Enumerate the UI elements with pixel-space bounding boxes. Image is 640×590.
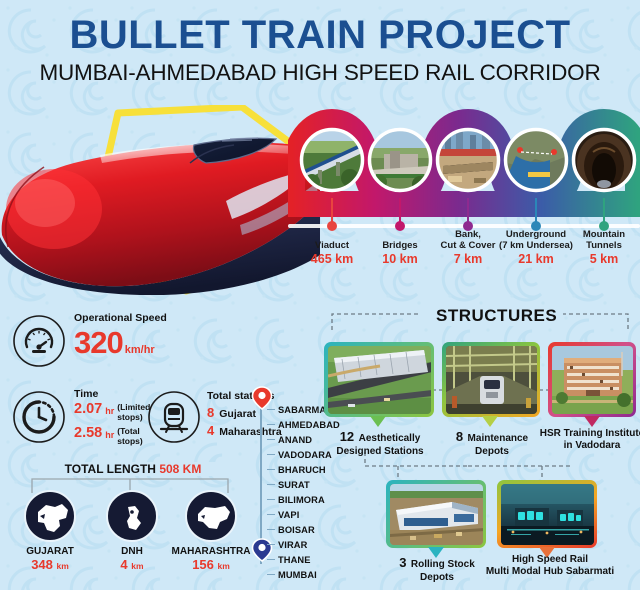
infra-item-mountain-tunnels: Mountain Tunnels 5 km [566, 229, 640, 267]
time-unit: hr [105, 425, 114, 440]
station-tick [267, 559, 275, 561]
station-item[interactable]: BOISAR [267, 523, 315, 536]
modern-station-aerial-photo [328, 346, 431, 414]
structure-card-rolling-stock-depots[interactable] [386, 480, 486, 548]
station-tick [267, 424, 275, 426]
structure-caption-training-institute: HSR Training Institute in Vadodara [533, 428, 640, 452]
station-item[interactable]: SURAT [267, 478, 310, 491]
infographic-canvas: BULLET TRAIN PROJECT MUMBAI-AHMEDABAD HI… [0, 0, 640, 590]
station-tick [267, 439, 275, 441]
station-list: SABARMATI AHMEDABAD ANAND VADODARA BHARU… [248, 392, 348, 577]
station-tick [267, 529, 275, 531]
station-name: MUMBAI [278, 570, 317, 580]
structure-card-multimodal-hub[interactable] [497, 480, 597, 548]
structure-text-line2: in Vadodara [533, 440, 640, 452]
infra-value: 5 km [566, 252, 640, 267]
speed-value: 320 [74, 327, 123, 358]
state-maharashtra: MAHARASHTRA 156 km [169, 490, 253, 574]
station-tick [267, 469, 275, 471]
card-pointer [370, 416, 386, 427]
structure-text: High Speed Rail [462, 554, 638, 566]
stations-count: 8 [207, 406, 214, 420]
rolling-stock-depot-photo [390, 484, 483, 545]
structure-caption-stations: 12 Aesthetically Designed Stations [318, 428, 442, 458]
time-note: (Total stops) [117, 425, 143, 446]
sabarmati-hub-night-photo [501, 484, 594, 545]
station-item[interactable]: BHARUCH [267, 463, 326, 476]
infrastructure-labels: Viaduct 465 km Bridges 10 km Bank, Cut &… [288, 230, 640, 275]
speedometer-icon [12, 314, 66, 368]
stations-count: 4 [207, 424, 214, 438]
state-dnh: DNH 4 km [90, 490, 174, 574]
station-item[interactable]: ANAND [267, 433, 312, 446]
station-item[interactable]: VAPI [267, 508, 299, 521]
speed-unit: km/hr [125, 344, 155, 356]
structure-card-training-institute[interactable] [548, 342, 636, 417]
station-item[interactable]: BILIMORA [267, 493, 325, 506]
time-value: 2.58 [74, 425, 102, 441]
state-distance: 4 km [90, 557, 174, 574]
infra-label-line2: Tunnels [566, 240, 640, 251]
state-distance: 348 km [8, 557, 92, 574]
train-front-icon [147, 390, 201, 444]
state-name: MAHARASHTRA [169, 546, 253, 557]
speed-label: Operational Speed [74, 312, 167, 324]
station-tick [267, 454, 275, 456]
structure-text: Maintenance [468, 433, 529, 444]
infra-label-line1: Mountain [566, 229, 640, 240]
card-pointer [584, 416, 600, 427]
station-name: ANAND [278, 435, 312, 445]
time-label: Time [74, 388, 150, 400]
structure-count: 8 [456, 429, 463, 444]
total-length-section: TOTAL LENGTH 508 KM GUJARAT 348 km [8, 462, 253, 584]
gujarat-map-icon [24, 490, 76, 542]
structure-card-maintenance-depots[interactable] [442, 342, 540, 417]
page-subtitle: MUMBAI-AHMEDABAD HIGH SPEED RAIL CORRIDO… [39, 62, 600, 85]
total-length-text: TOTAL LENGTH [65, 462, 156, 476]
station-name: BOISAR [278, 525, 315, 535]
structures-title: STRUCTURES [430, 306, 563, 326]
station-name: VAPI [278, 510, 299, 520]
time-value: 2.07 [74, 401, 102, 417]
state-name: GUJARAT [8, 546, 92, 557]
structure-count: 3 [399, 555, 406, 570]
maintenance-depot-interior-photo [446, 346, 537, 414]
structure-caption-maintenance-depots: 8 Maintenance Depots [436, 428, 548, 458]
structure-text: HSR Training Institute [533, 428, 640, 440]
station-name: VIRAR [278, 540, 307, 550]
maharashtra-map-icon [185, 490, 237, 542]
station-item[interactable]: MUMBAI [267, 568, 317, 581]
state-distance: 156 km [169, 557, 253, 574]
station-tick [267, 574, 275, 576]
total-length-value: 508 KM [159, 462, 201, 476]
structure-card-stations[interactable] [324, 342, 434, 417]
station-name: BILIMORA [278, 495, 325, 505]
state-gujarat: GUJARAT 348 km [8, 490, 92, 574]
bullet-train-illustration [0, 105, 320, 295]
time-unit: hr [105, 401, 114, 416]
structure-text-line2: Multi Modal Hub Sabarmati [462, 566, 638, 578]
station-tick [267, 484, 275, 486]
structure-count: 12 [340, 429, 354, 444]
structure-text-line2: Designed Stations [318, 446, 442, 458]
time-row-limited: 2.07 hr (Limited stops) [74, 401, 150, 422]
dnh-map-icon [106, 490, 158, 542]
station-tick [267, 544, 275, 546]
time-row-total: 2.58 hr (Total stops) [74, 425, 150, 446]
total-length-label: TOTAL LENGTH 508 KM [38, 462, 228, 476]
training-institute-building-photo [552, 346, 633, 414]
structure-caption-multimodal-hub: High Speed Rail Multi Modal Hub Sabarmat… [462, 554, 638, 578]
station-tick [267, 409, 275, 411]
station-tick [267, 499, 275, 501]
structure-text-line2: Depots [436, 446, 548, 458]
station-name: SURAT [278, 480, 310, 490]
card-pointer [482, 416, 498, 427]
clock-icon [12, 390, 66, 444]
station-item[interactable]: VIRAR [267, 538, 307, 551]
structure-text: Aesthetically [359, 433, 421, 444]
station-name: THANE [278, 555, 311, 565]
page-title: BULLET TRAIN PROJECT [69, 15, 570, 55]
station-name: BHARUCH [278, 465, 326, 475]
time-note: (Limited stops) [117, 401, 150, 422]
station-tick [267, 514, 275, 516]
state-name: DNH [90, 546, 174, 557]
station-item[interactable]: THANE [267, 553, 311, 566]
header: BULLET TRAIN PROJECT MUMBAI-AHMEDABAD HI… [0, 0, 640, 100]
